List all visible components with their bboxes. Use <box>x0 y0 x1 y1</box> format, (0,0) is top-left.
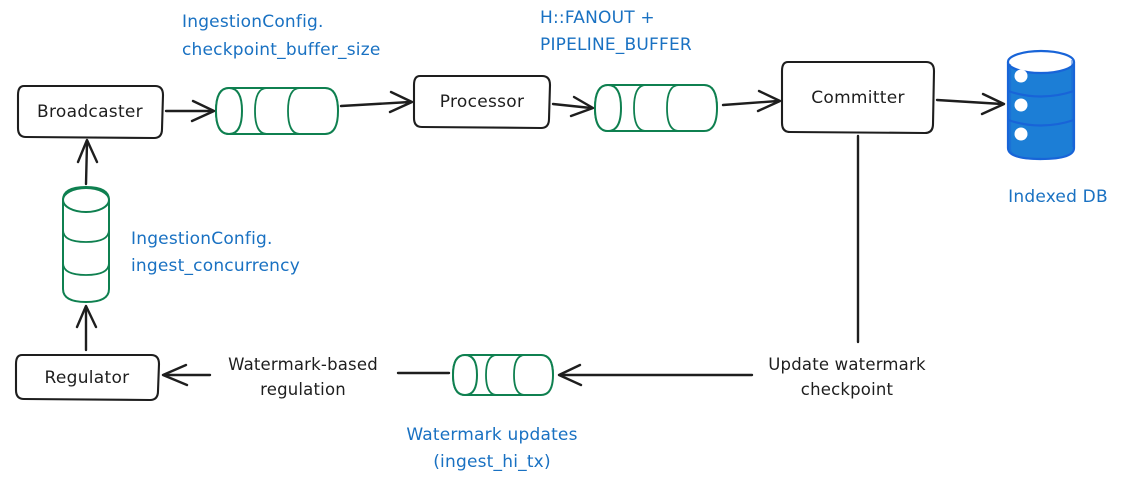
annotation-watermark-updates: Watermark updates (ingest_hi_tx) <box>406 425 577 472</box>
arrow-regulation-to-regulator <box>163 365 210 385</box>
edge-label-update-watermark-checkpoint: Update watermark checkpoint <box>768 355 926 399</box>
svg-text:Watermark-based: Watermark-based <box>228 355 378 374</box>
svg-text:Update watermark: Update watermark <box>768 355 926 374</box>
buffer-watermark <box>453 355 553 395</box>
svg-text:(ingest_hi_tx): (ingest_hi_tx) <box>433 452 551 472</box>
db-indicator-dot <box>1015 70 1028 83</box>
arrow-checkpoint-buffer-to-processor <box>341 92 412 112</box>
svg-text:IngestionConfig.: IngestionConfig. <box>131 229 273 249</box>
db-indicator-dot <box>1015 99 1028 112</box>
diagram-svg: Broadcaster Processor Committer Regulato… <box>0 0 1124 479</box>
node-regulator[interactable]: Regulator <box>16 355 159 400</box>
svg-text:regulation: regulation <box>260 380 346 399</box>
svg-text:Watermark updates: Watermark updates <box>406 425 577 445</box>
db-indicator-dot <box>1015 128 1028 141</box>
svg-text:checkpoint: checkpoint <box>801 380 894 399</box>
arrow-committer-to-indexed-db <box>937 94 1004 114</box>
svg-text:H::FANOUT +: H::FANOUT + <box>540 8 655 28</box>
indexed-db-caption: Indexed DB <box>1008 187 1108 207</box>
node-broadcaster[interactable]: Broadcaster <box>18 86 163 138</box>
svg-text:checkpoint_buffer_size: checkpoint_buffer_size <box>182 40 380 60</box>
arrow-processor-to-pipeline-buffer <box>553 97 593 116</box>
node-committer[interactable]: Committer <box>782 62 934 133</box>
buffer-checkpoint <box>216 88 338 134</box>
node-indexed-db[interactable] <box>1008 51 1074 159</box>
svg-text:ingest_concurrency: ingest_concurrency <box>131 256 300 276</box>
node-processor[interactable]: Processor <box>414 76 550 128</box>
arrow-broadcaster-to-checkpoint-buffer <box>166 101 214 121</box>
annotation-fanout-pipeline-buffer: H::FANOUT + PIPELINE_BUFFER <box>540 8 692 55</box>
arrow-ingest-buffer-to-broadcaster <box>78 140 97 184</box>
node-committer-label: Committer <box>811 88 905 108</box>
annotation-ingest-concurrency: IngestionConfig. ingest_concurrency <box>131 229 300 276</box>
svg-text:IngestionConfig.: IngestionConfig. <box>182 12 324 32</box>
buffer-pipeline <box>595 85 717 131</box>
arrow-regulator-to-ingest-buffer <box>77 306 96 350</box>
buffer-ingest-concurrency <box>63 187 109 302</box>
annotation-checkpoint-buffer-size: IngestionConfig. checkpoint_buffer_size <box>182 12 380 60</box>
node-broadcaster-label: Broadcaster <box>37 102 143 122</box>
node-processor-label: Processor <box>440 92 525 112</box>
arrow-committer-to-watermark-buffer <box>559 365 752 385</box>
diagram-canvas: Broadcaster Processor Committer Regulato… <box>0 0 1124 479</box>
edge-label-watermark-based-regulation: Watermark-based regulation <box>228 355 378 399</box>
node-regulator-label: Regulator <box>45 368 130 388</box>
svg-text:PIPELINE_BUFFER: PIPELINE_BUFFER <box>540 35 692 55</box>
arrow-pipeline-buffer-to-committer <box>723 91 780 111</box>
